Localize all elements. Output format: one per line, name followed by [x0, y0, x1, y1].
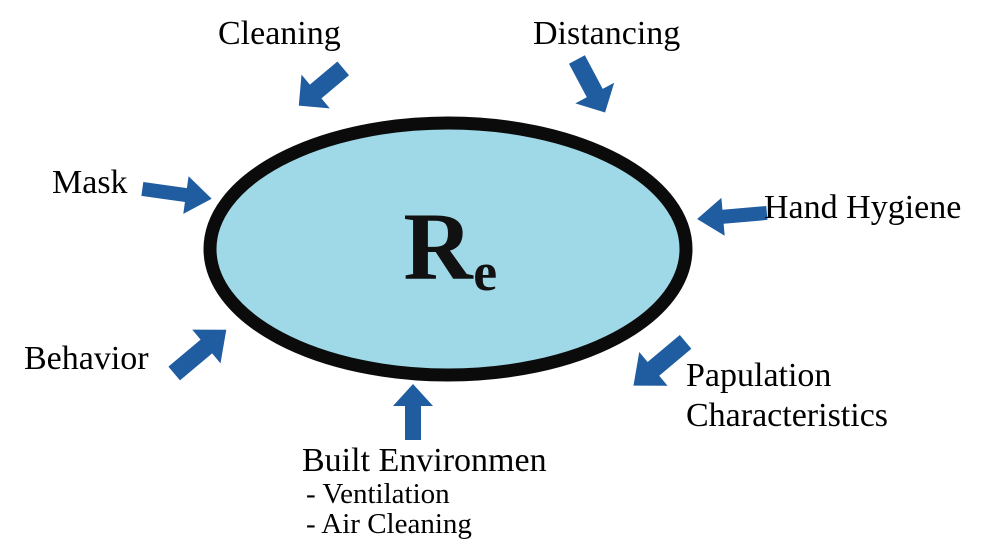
label-population-line2: Characteristics: [686, 397, 888, 434]
arrow-population-icon: [622, 336, 694, 394]
label-built-environment-title: Built Environmen: [302, 442, 547, 479]
arrow-behavior-icon: [166, 322, 236, 380]
label-hand-hygiene: Hand Hygiene: [764, 190, 961, 226]
label-mask: Mask: [52, 165, 128, 201]
label-built-environment: Built Environmen - Ventilation - Air Cle…: [302, 443, 702, 540]
label-distancing: Distancing: [533, 16, 680, 52]
re-ellipse-container: Re: [203, 116, 693, 382]
label-behavior: Behavior: [24, 341, 149, 377]
label-built-environment-bullet-2: - Air Cleaning: [306, 509, 702, 539]
diagram-canvas: Re Cleaning Distancing Mask Hand Hygiene…: [0, 0, 1000, 558]
arrow-mask-icon: [142, 173, 214, 215]
re-ellipse-shape: [203, 116, 693, 382]
label-cleaning: Cleaning: [218, 16, 341, 52]
label-population-line1: Papulation: [686, 357, 831, 394]
label-built-environment-bullet-1: - Ventilation: [306, 479, 702, 509]
arrow-built-environment-icon: [392, 384, 434, 442]
arrow-distancing-icon: [556, 54, 626, 118]
label-population: Papulation Characteristics: [686, 356, 986, 436]
arrow-hand-hygiene-icon: [697, 196, 767, 236]
arrow-cleaning-icon: [286, 56, 356, 118]
